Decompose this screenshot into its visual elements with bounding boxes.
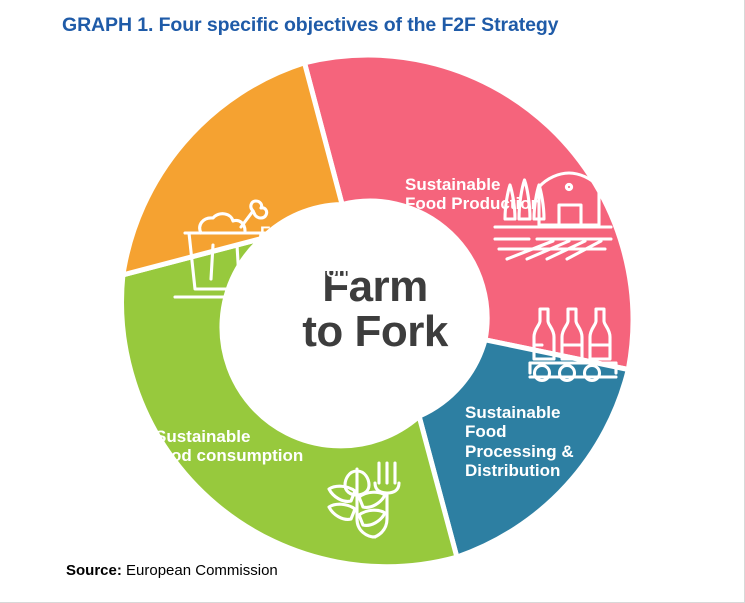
donut-chart: Farm to Fork Sustainable Food Production…	[105, 45, 645, 575]
slice-food-loss-waste-prevention[interactable]	[123, 63, 342, 275]
source-value: European Commission	[122, 562, 278, 579]
page-title: GRAPH 1. Four specific objectives of the…	[62, 14, 558, 37]
graph-figure: GRAPH 1. Four specific objectives of the…	[0, 0, 745, 603]
slice-sustainable-food-production[interactable]	[305, 55, 633, 369]
slice-sustainable-food-consumption[interactable]	[122, 238, 457, 566]
source-label: Source:	[66, 562, 122, 579]
donut-svg	[105, 45, 645, 575]
source-note: Source: European Commission	[66, 562, 278, 579]
